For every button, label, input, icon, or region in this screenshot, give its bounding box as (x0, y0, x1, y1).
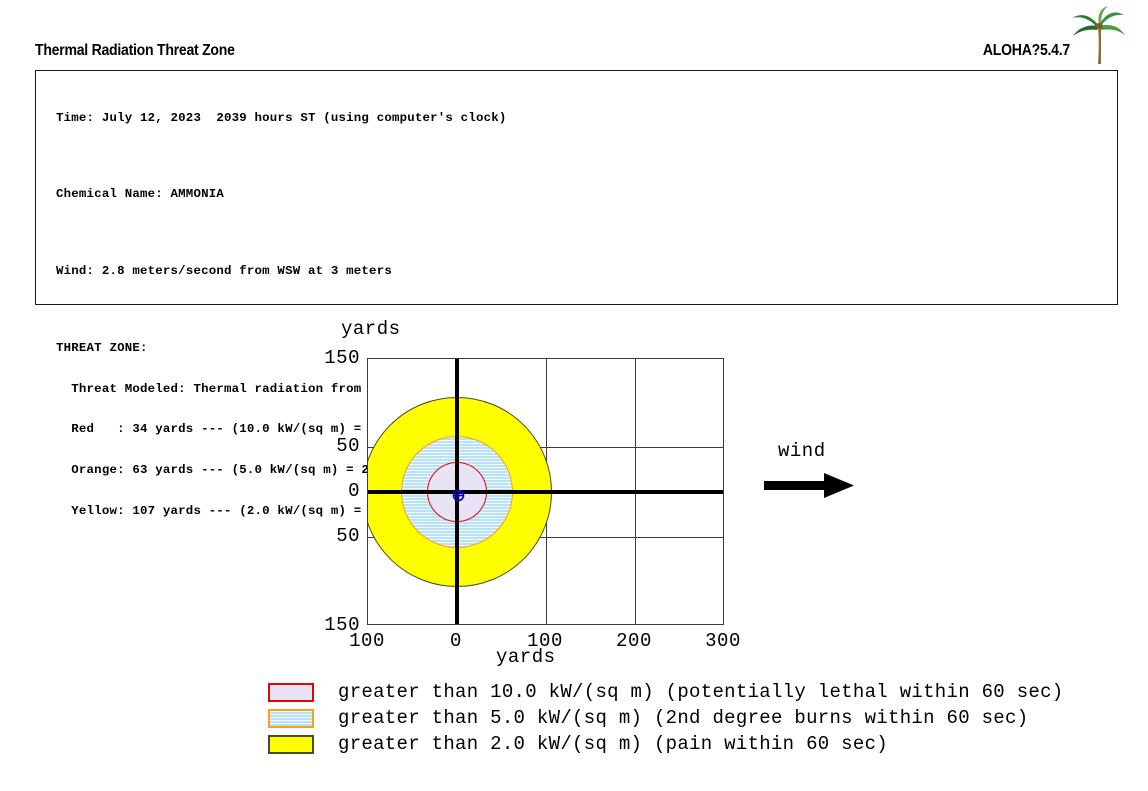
yellow-zone-swatch (268, 735, 314, 754)
app-version-label: ALOHA?5.4.7 (983, 42, 1070, 60)
wind-label: wind (778, 440, 826, 462)
x-tick-0: 0 (426, 630, 486, 652)
orange-zone-swatch (268, 709, 314, 728)
y-tick-150: 150 (300, 347, 360, 369)
legend-row-red: greater than 10.0 kW/(sq m) (potentially… (268, 680, 1148, 706)
x-tick-300: 300 (693, 630, 753, 652)
threat-zone-plot: yards yards 150 50 0 50 150 100 0 100 20… (0, 318, 1148, 678)
legend-row-orange: greater than 5.0 kW/(sq m) (2nd degree b… (268, 706, 1148, 732)
x-tick-200: 200 (604, 630, 664, 652)
legend: greater than 10.0 kW/(sq m) (potentially… (268, 680, 1148, 758)
plot-frame (367, 358, 724, 625)
legend-label-yellow: greater than 2.0 kW/(sq m) (pain within … (338, 732, 888, 756)
y-tick-50: 50 (300, 435, 360, 457)
x-tick-100: 100 (515, 630, 575, 652)
y-tick-0: 0 (300, 480, 360, 502)
summary-text-box: Time: July 12, 2023 2039 hours ST (using… (35, 70, 1118, 305)
spacer (56, 306, 621, 317)
wind-conditions-line: Wind: 2.8 meters/second from WSW at 3 me… (56, 265, 621, 281)
time-line: Time: July 12, 2023 2039 hours ST (using… (56, 112, 621, 128)
chemical-name-line: Chemical Name: AMMONIA (56, 188, 621, 204)
palm-tree-icon (1068, 6, 1126, 68)
y-tick-neg50: 50 (300, 525, 360, 547)
legend-label-orange: greater than 5.0 kW/(sq m) (2nd degree b… (338, 706, 1028, 730)
legend-row-yellow: greater than 2.0 kW/(sq m) (pain within … (268, 732, 1148, 758)
spacer (56, 153, 621, 164)
wind-arrow-right-icon (764, 472, 856, 500)
spacer (56, 229, 621, 240)
y-axis-label: yards (341, 318, 401, 340)
legend-label-red: greater than 10.0 kW/(sq m) (potentially… (338, 680, 1064, 704)
app-header: Thermal Radiation Threat Zone ALOHA?5.4.… (0, 0, 1148, 70)
page-title: Thermal Radiation Threat Zone (35, 42, 235, 60)
source-crosshair-icon (452, 489, 465, 502)
x-tick-neg100: 100 (337, 630, 397, 652)
red-zone-swatch (268, 683, 314, 702)
wind-indicator: wind (760, 440, 880, 510)
x-axis-line (368, 490, 723, 494)
